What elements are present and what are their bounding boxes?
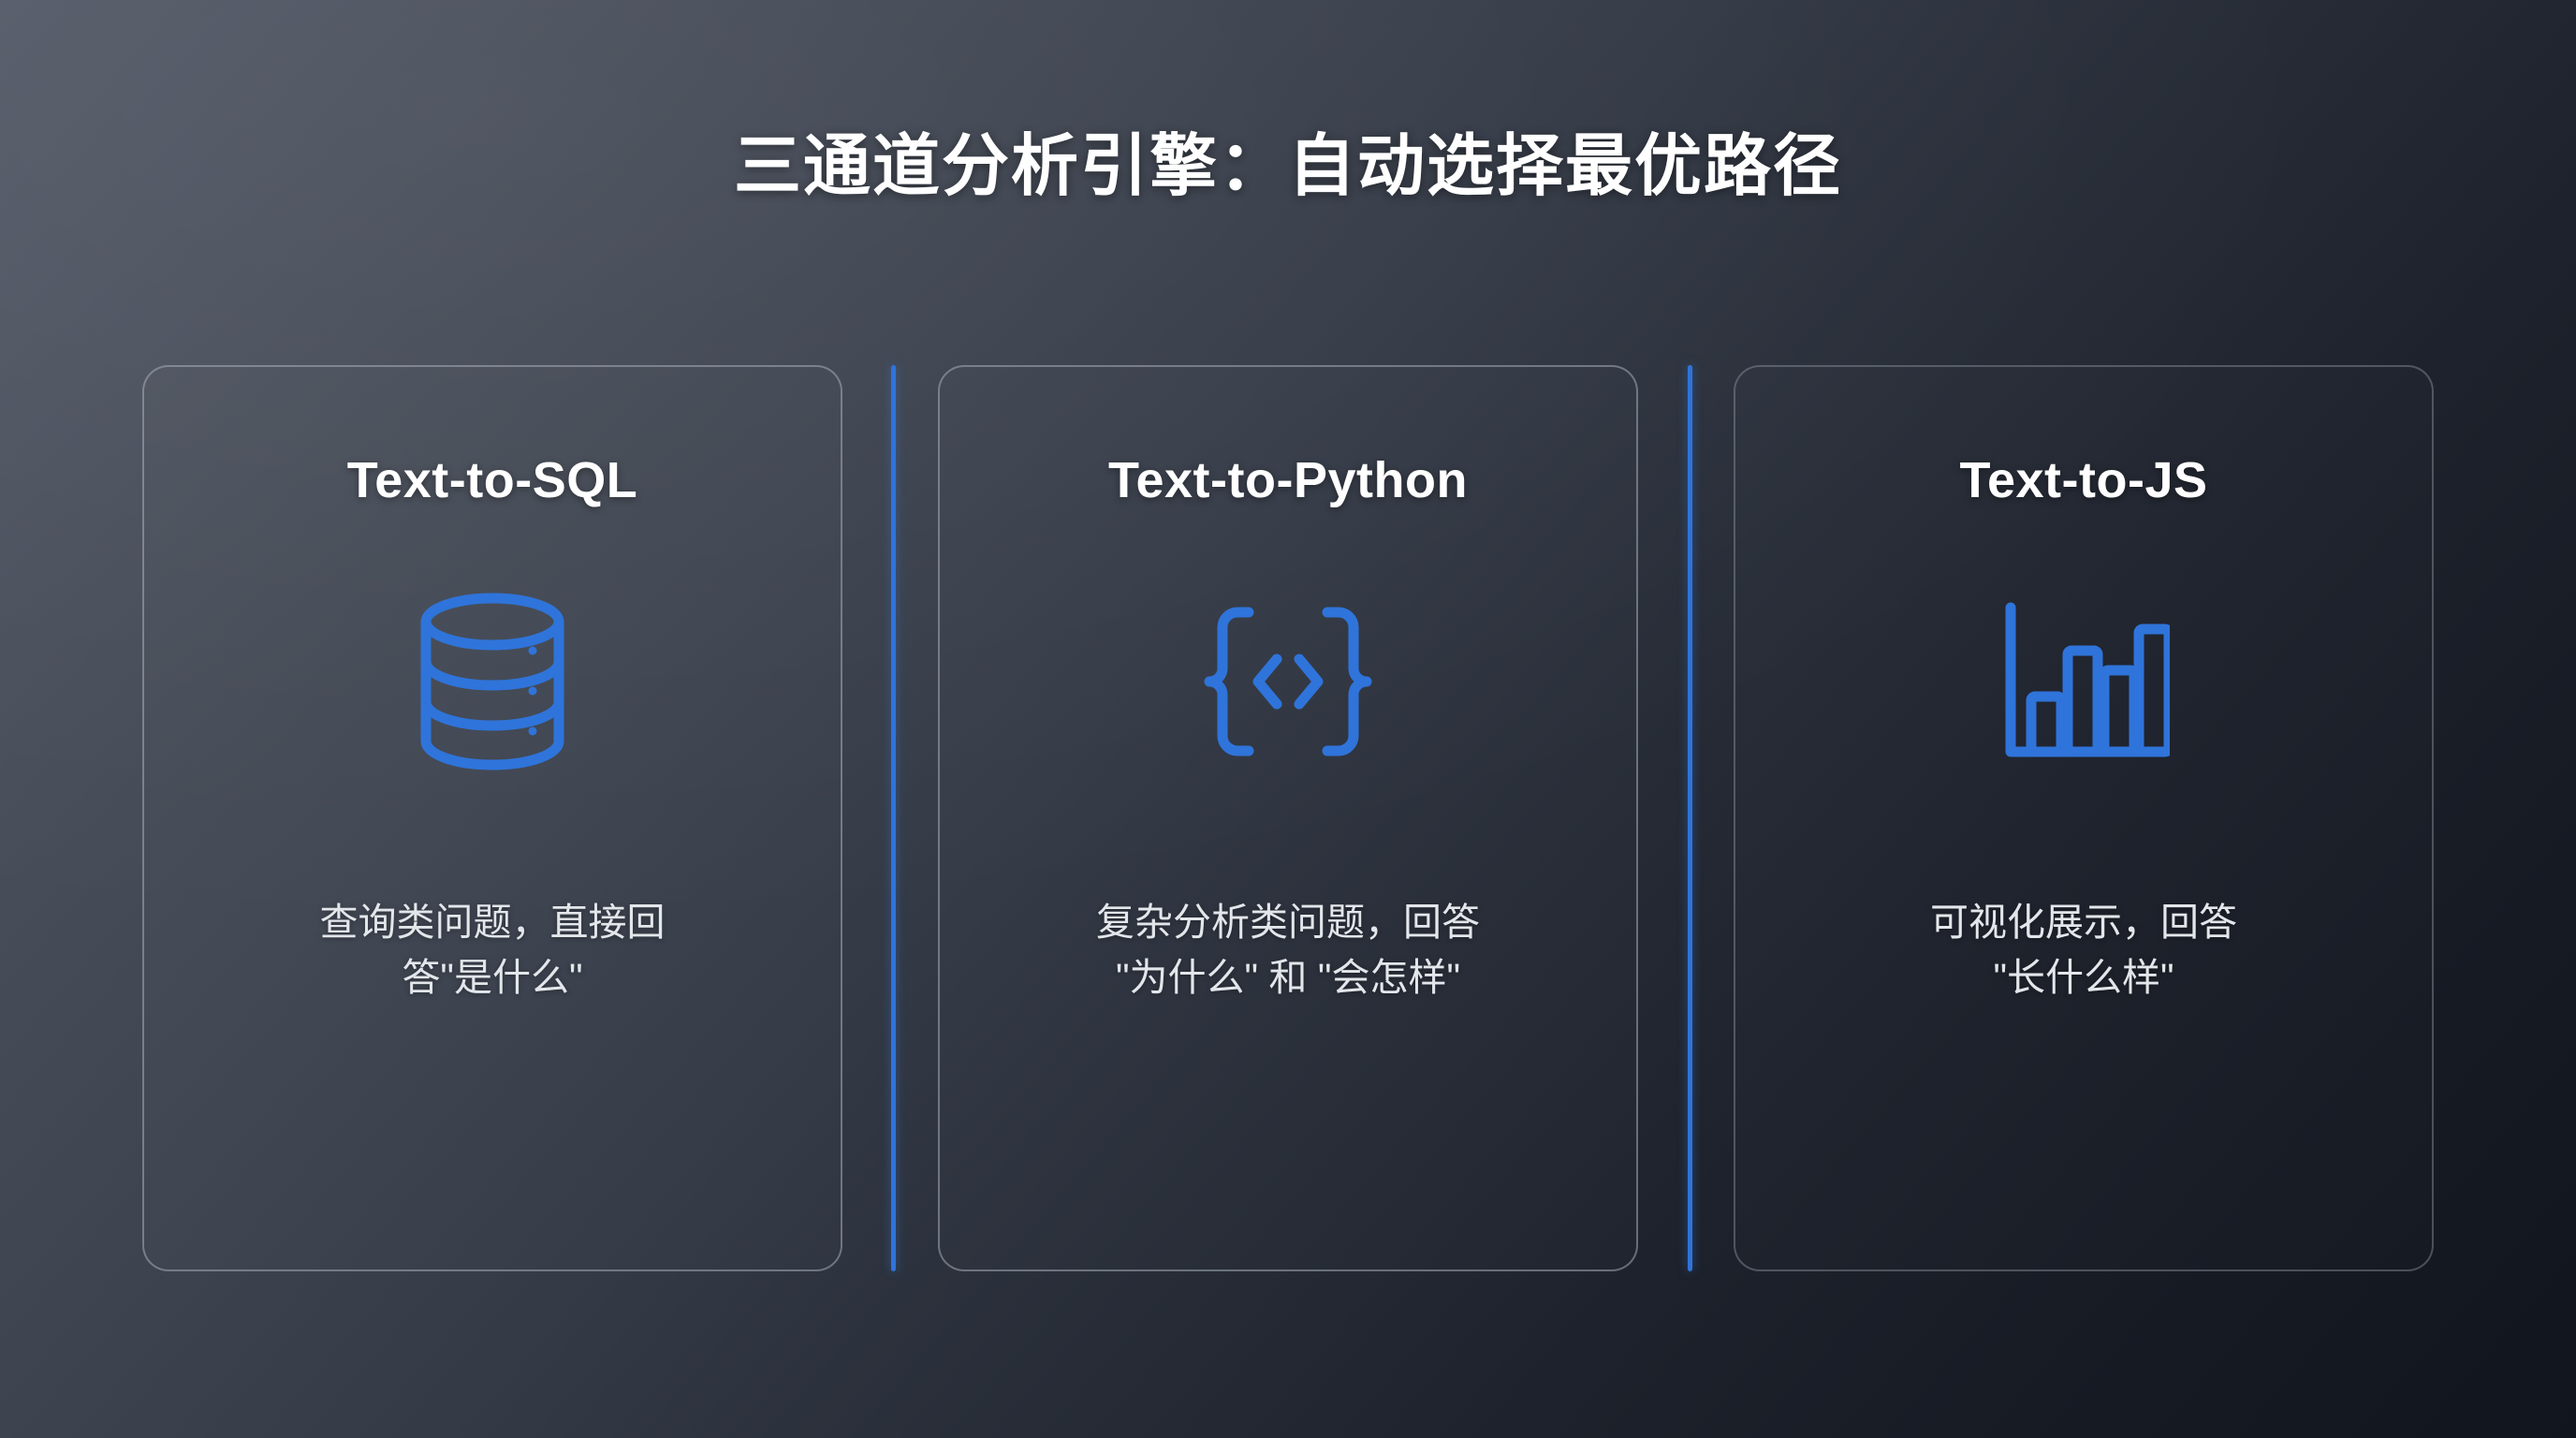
divider-2 (1688, 365, 1692, 1271)
card-title: Text-to-JS (1959, 451, 2207, 509)
page-title: 三通道分析引擎：自动选择最优路径 (0, 110, 2576, 209)
slide-canvas: 三通道分析引擎：自动选择最优路径 Text-to-SQL 查询类问题，直接回 答… (0, 0, 2576, 1438)
divider-1 (891, 365, 896, 1271)
card-title: Text-to-Python (1108, 451, 1468, 509)
card-text-to-python[interactable]: Text-to-Python 复杂分析类问题，回答 "为什么" 和 "会怎样" (938, 365, 1638, 1271)
card-text-to-sql[interactable]: Text-to-SQL 查询类问题，直接回 答"是什么" (142, 365, 842, 1271)
code-braces-icon (1194, 579, 1382, 785)
card-description: 可视化展示，回答 "长什么样" (1822, 895, 2346, 1006)
card-description: 查询类问题，直接回 答"是什么" (230, 895, 754, 1006)
card-group: Text-to-SQL 查询类问题，直接回 答"是什么" Text-to-Pyt… (142, 365, 2434, 1271)
card-title: Text-to-SQL (347, 451, 637, 509)
card-text-to-js[interactable]: Text-to-JS 可视化展示，回答 "长什么样" (1734, 365, 2434, 1271)
bar-chart-icon (1998, 579, 2170, 785)
database-icon (413, 579, 572, 785)
card-description: 复杂分析类问题，回答 "为什么" 和 "会怎样" (1026, 895, 1550, 1006)
